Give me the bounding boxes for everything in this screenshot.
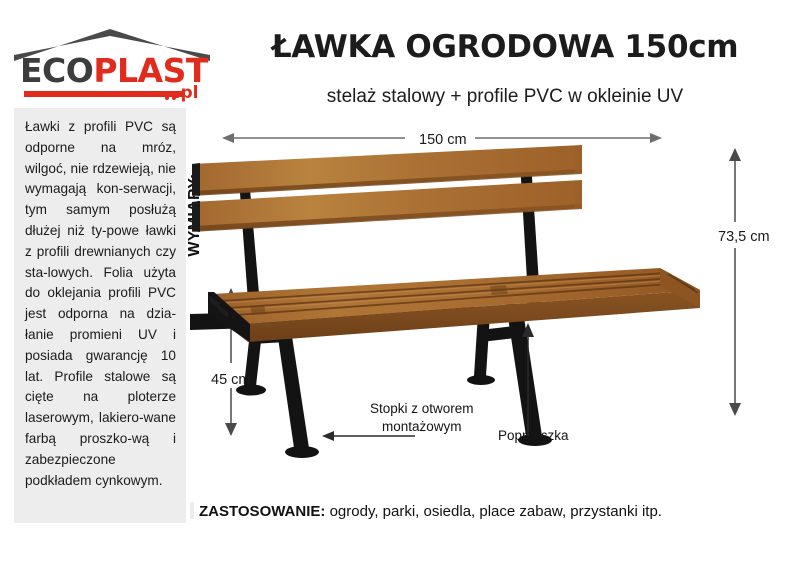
callout-label-feet: Stopki z otworemmontażowym	[370, 400, 474, 435]
callout-feet-line1: Stopki z otworemmontażowym	[370, 401, 474, 434]
logo-tld: .pl	[174, 83, 198, 103]
brand-logo: ECOPLAST .pl	[14, 28, 210, 100]
bench-illustration	[190, 118, 790, 473]
dimension-label-height: 73,5 cm	[718, 229, 770, 245]
logo-underline	[24, 91, 182, 97]
bench-diagram	[190, 118, 790, 473]
seat-surface	[208, 268, 700, 342]
application-value: ogrody, parki, osiedla, place zabaw, prz…	[330, 503, 662, 520]
callout-label-crossbar: Poprzeczka	[498, 427, 569, 445]
product-description: Ławki z profili PVC są odporne na mróz, …	[14, 108, 186, 523]
page-title: ŁAWKA OGRODOWA 150cm	[215, 30, 795, 64]
dimension-line-height	[729, 148, 741, 416]
dimension-label-seat-height: 45 cm	[211, 372, 251, 388]
application-label: ZASTOSOWANIE:	[199, 503, 325, 520]
logo-text-eco: ECO	[20, 51, 93, 90]
dimension-label-width: 150 cm	[419, 132, 467, 148]
application-bar: ZASTOSOWANIE: ogrody, parki, osiedla, pl…	[190, 502, 790, 528]
page-subtitle: stelaż stalowy + profile PVC w okleinie …	[215, 86, 795, 108]
accent-bar	[190, 502, 194, 519]
logo-dot-left	[165, 96, 169, 100]
